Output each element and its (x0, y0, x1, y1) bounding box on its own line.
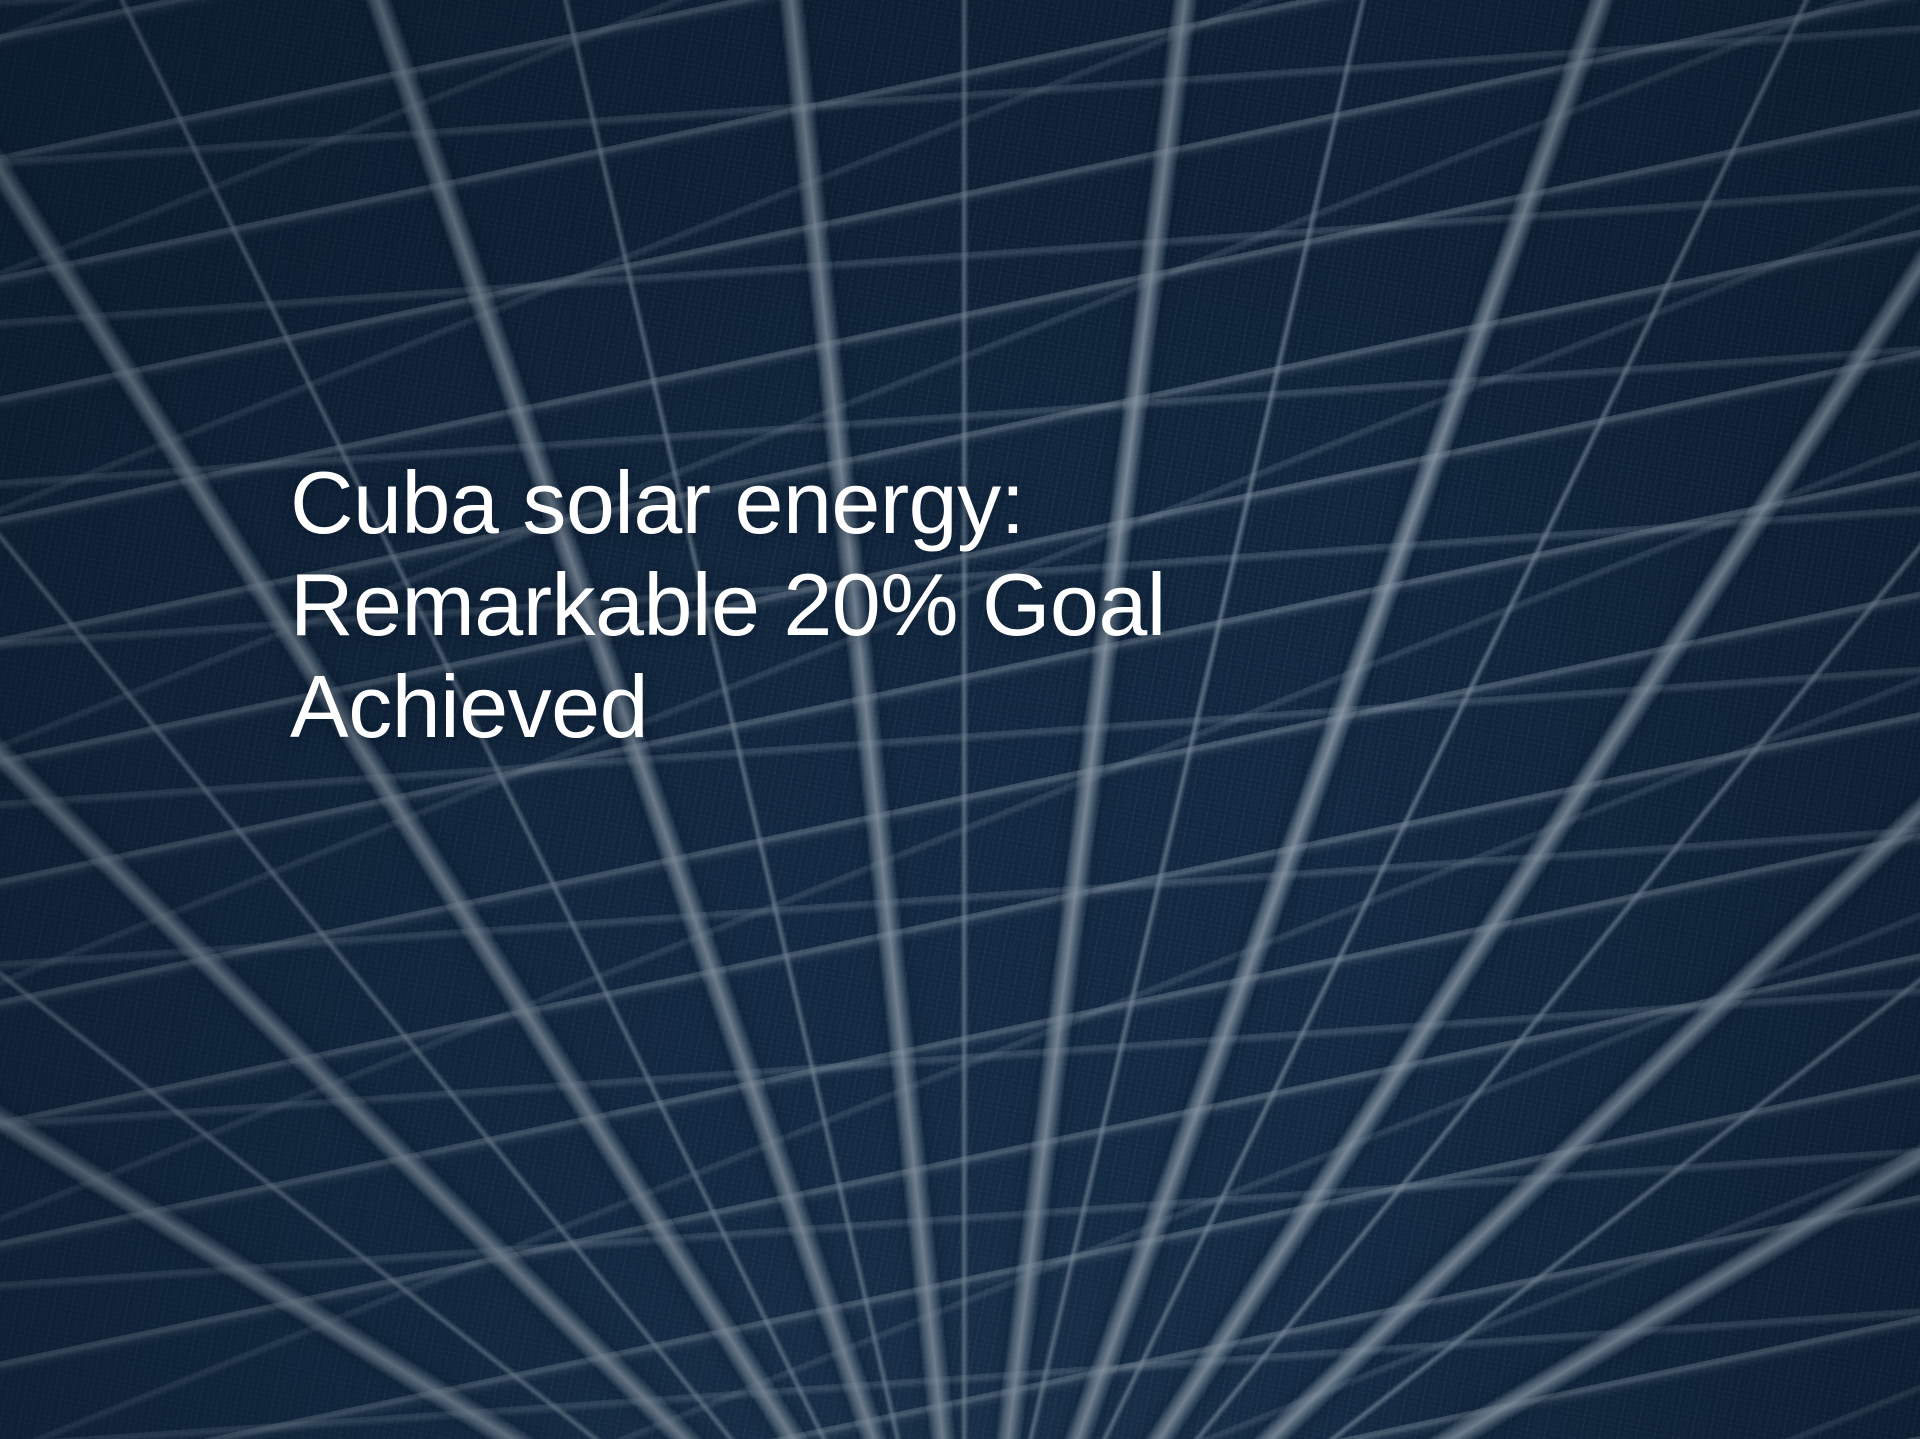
page-title: Cuba solar energy: Remarkable 20% Goal A… (290, 452, 1340, 758)
hero-banner: Cuba solar energy: Remarkable 20% Goal A… (0, 0, 1920, 1439)
headline-block: Cuba solar energy: Remarkable 20% Goal A… (290, 452, 1340, 758)
